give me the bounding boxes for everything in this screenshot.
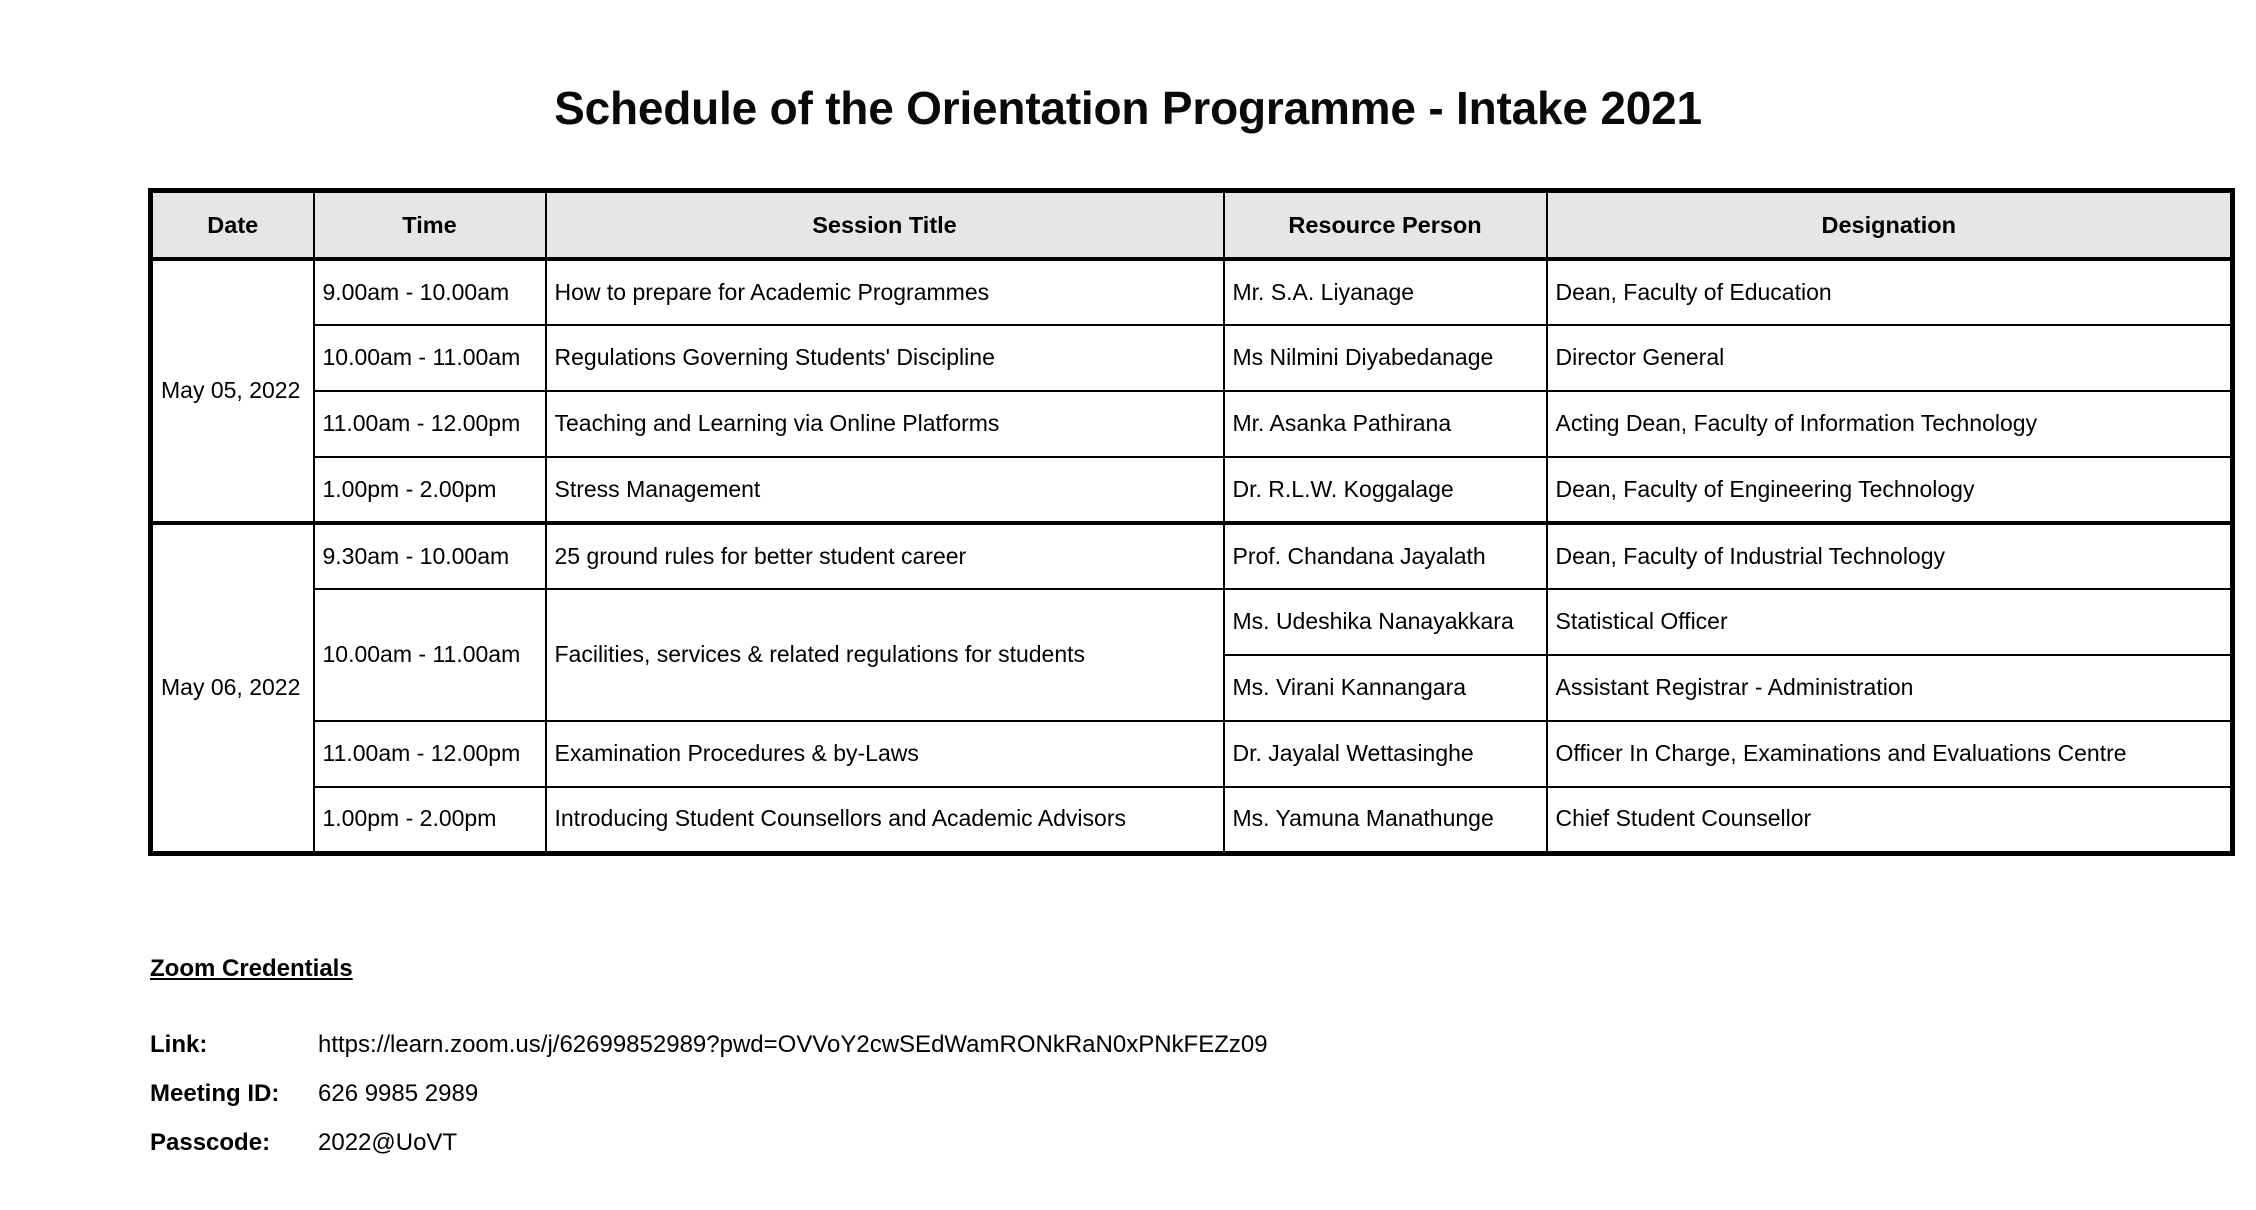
- meeting-id-label: Meeting ID:: [150, 1080, 318, 1108]
- column-header-time: Time: [314, 191, 546, 260]
- cell-time: 11.00am - 12.00pm: [314, 721, 546, 787]
- cell-resource-person: Ms Nilmini Diyabedanage: [1224, 325, 1547, 391]
- credential-row-meeting-id: Meeting ID: 626 9985 2989: [150, 1080, 1850, 1108]
- cell-session-title: Regulations Governing Students' Discipli…: [546, 325, 1224, 391]
- cell-time: 1.00pm - 2.00pm: [314, 787, 546, 853]
- cell-resource-person: Mr. S.A. Liyanage: [1224, 259, 1547, 325]
- cell-time: 11.00am - 12.00pm: [314, 391, 546, 457]
- table-row: 1.00pm - 2.00pm Stress Management Dr. R.…: [151, 457, 2233, 523]
- link-label: Link:: [150, 1031, 318, 1059]
- credential-row-passcode: Passcode: 2022@UoVT: [150, 1129, 1850, 1157]
- page-title: Schedule of the Orientation Programme - …: [0, 81, 2256, 135]
- zoom-credentials-heading: Zoom Credentials: [150, 955, 353, 983]
- cell-resource-person: Dr. Jayalal Wettasinghe: [1224, 721, 1547, 787]
- cell-session-title: Examination Procedures & by-Laws: [546, 721, 1224, 787]
- cell-designation: Statistical Officer: [1547, 589, 2233, 655]
- table-body: May 05, 2022 9.00am - 10.00am How to pre…: [151, 259, 2233, 853]
- cell-designation: Acting Dean, Faculty of Information Tech…: [1547, 391, 2233, 457]
- cell-designation: Dean, Faculty of Engineering Technology: [1547, 457, 2233, 523]
- cell-time: 10.00am - 11.00am: [314, 325, 546, 391]
- orientation-schedule-table: Date Time Session Title Resource Person …: [148, 188, 2235, 856]
- table-header: Date Time Session Title Resource Person …: [151, 191, 2233, 260]
- cell-resource-person: Ms. Virani Kannangara: [1224, 655, 1547, 721]
- table-row: 10.00am - 11.00am Facilities, services &…: [151, 589, 2233, 655]
- table-row: 11.00am - 12.00pm Examination Procedures…: [151, 721, 2233, 787]
- table-row: 1.00pm - 2.00pm Introducing Student Coun…: [151, 787, 2233, 853]
- cell-resource-person: Ms. Udeshika Nanayakkara: [1224, 589, 1547, 655]
- cell-resource-person: Mr. Asanka Pathirana: [1224, 391, 1547, 457]
- column-header-date: Date: [151, 191, 314, 260]
- cell-time: 9.30am - 10.00am: [314, 523, 546, 589]
- cell-designation: Director General: [1547, 325, 2233, 391]
- column-header-session-title: Session Title: [546, 191, 1224, 260]
- table-row: 10.00am - 11.00am Regulations Governing …: [151, 325, 2233, 391]
- cell-time: 9.00am - 10.00am: [314, 259, 546, 325]
- cell-designation: Officer In Charge, Examinations and Eval…: [1547, 721, 2233, 787]
- column-header-resource-person: Resource Person: [1224, 191, 1547, 260]
- table-header-row: Date Time Session Title Resource Person …: [151, 191, 2233, 260]
- cell-resource-person: Dr. R.L.W. Koggalage: [1224, 457, 1547, 523]
- cell-session-title: Facilities, services & related regulatio…: [546, 589, 1224, 721]
- cell-time: 10.00am - 11.00am: [314, 589, 546, 721]
- cell-session-title: Introducing Student Counsellors and Acad…: [546, 787, 1224, 853]
- cell-date-may-06: May 06, 2022: [151, 523, 314, 853]
- credential-row-link: Link: https://learn.zoom.us/j/6269985298…: [150, 1031, 1850, 1059]
- column-header-designation: Designation: [1547, 191, 2233, 260]
- table-row: 11.00am - 12.00pm Teaching and Learning …: [151, 391, 2233, 457]
- cell-designation: Dean, Faculty of Education: [1547, 259, 2233, 325]
- cell-date-may-05: May 05, 2022: [151, 259, 314, 523]
- zoom-link-value[interactable]: https://learn.zoom.us/j/62699852989?pwd=…: [318, 1031, 1268, 1059]
- cell-resource-person: Ms. Yamuna Manathunge: [1224, 787, 1547, 853]
- cell-designation: Assistant Registrar - Administration: [1547, 655, 2233, 721]
- document-page: Schedule of the Orientation Programme - …: [0, 0, 2256, 1210]
- zoom-credentials-section: Zoom Credentials Link: https://learn.zoo…: [150, 955, 1850, 1178]
- cell-time: 1.00pm - 2.00pm: [314, 457, 546, 523]
- table-row: May 05, 2022 9.00am - 10.00am How to pre…: [151, 259, 2233, 325]
- passcode-value: 2022@UoVT: [318, 1129, 457, 1157]
- cell-designation: Dean, Faculty of Industrial Technology: [1547, 523, 2233, 589]
- cell-session-title: 25 ground rules for better student caree…: [546, 523, 1224, 589]
- table-row: May 06, 2022 9.30am - 10.00am 25 ground …: [151, 523, 2233, 589]
- cell-session-title: Teaching and Learning via Online Platfor…: [546, 391, 1224, 457]
- cell-session-title: Stress Management: [546, 457, 1224, 523]
- cell-session-title: How to prepare for Academic Programmes: [546, 259, 1224, 325]
- passcode-label: Passcode:: [150, 1129, 318, 1157]
- schedule-table-container: Date Time Session Title Resource Person …: [148, 188, 2230, 856]
- cell-resource-person: Prof. Chandana Jayalath: [1224, 523, 1547, 589]
- meeting-id-value: 626 9985 2989: [318, 1080, 478, 1108]
- cell-designation: Chief Student Counsellor: [1547, 787, 2233, 853]
